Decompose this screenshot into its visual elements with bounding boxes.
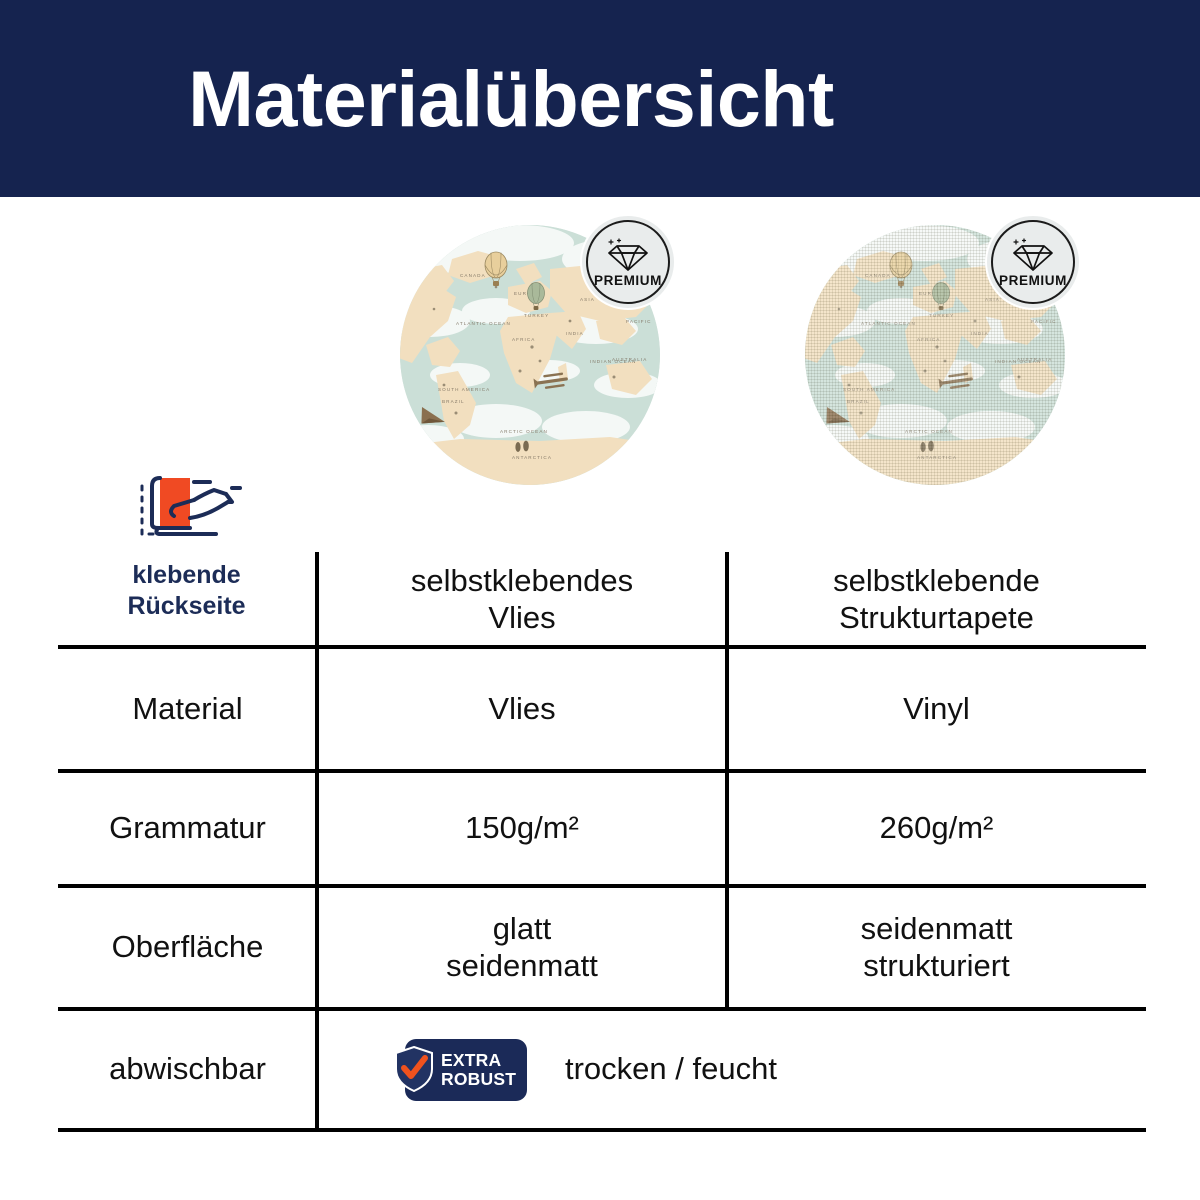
diamond-icon bbox=[606, 238, 650, 272]
premium-badge: PREMIUM bbox=[580, 214, 676, 310]
svg-text:PACIFIC: PACIFIC bbox=[1031, 319, 1056, 324]
premium-badge: PREMIUM bbox=[985, 214, 1081, 310]
svg-text:ARCTIC OCEAN: ARCTIC OCEAN bbox=[500, 429, 548, 434]
table-rule bbox=[58, 1128, 1146, 1132]
product-preview-vlies: ATLANTIC OCEAN AFRICA EUROPE ASIA INDIAN… bbox=[386, 214, 676, 504]
adhesive-back-icon bbox=[128, 472, 246, 548]
extra-robust-line1: EXTRA bbox=[441, 1051, 516, 1070]
svg-text:AFRICA: AFRICA bbox=[917, 337, 940, 342]
row-value-grammatur-vlies: 150g/m² bbox=[317, 771, 727, 886]
table-row: Grammatur 150g/m² 260g/m² bbox=[58, 771, 1146, 886]
material-overview-page: Materialübersicht bbox=[0, 0, 1200, 1200]
premium-badge-label: PREMIUM bbox=[999, 273, 1067, 288]
svg-text:ANTARCTICA: ANTARCTICA bbox=[917, 455, 957, 460]
shield-check-icon bbox=[394, 1046, 434, 1092]
row-value-material-strukturtapete: Vinyl bbox=[727, 647, 1146, 771]
abwischbar-value-text: trocken / feucht bbox=[565, 1051, 777, 1088]
column-header-vlies: selbstklebendes Vlies bbox=[317, 552, 727, 647]
diamond-icon bbox=[1011, 238, 1055, 272]
svg-text:ATLANTIC OCEAN: ATLANTIC OCEAN bbox=[456, 321, 511, 326]
table-header-row: klebende Rückseite selbstklebendes Vlies… bbox=[58, 552, 1146, 647]
table-rule bbox=[58, 884, 1146, 888]
table-row: abwischbar EXTRA ROBUST trocken / feucht bbox=[58, 1009, 1146, 1130]
table-column-divider bbox=[725, 552, 729, 1007]
extra-robust-badge-text: EXTRA ROBUST bbox=[441, 1051, 516, 1088]
table-rule bbox=[58, 1007, 1146, 1011]
svg-text:ATLANTIC OCEAN: ATLANTIC OCEAN bbox=[861, 321, 916, 326]
row-label-oberflaeche: Oberfläche bbox=[58, 886, 317, 1009]
premium-badge-inner: PREMIUM bbox=[991, 220, 1075, 304]
column-header-strukturtapete: selbstklebende Strukturtapete bbox=[727, 552, 1146, 647]
row-label-material: Material bbox=[58, 647, 317, 771]
table-row: Oberfläche glatt seidenmatt seidenmatt s… bbox=[58, 886, 1146, 1009]
svg-text:PACIFIC: PACIFIC bbox=[626, 319, 651, 324]
svg-text:BRAZIL: BRAZIL bbox=[442, 399, 465, 404]
table-column-divider bbox=[315, 552, 319, 1130]
row-value-oberflaeche-strukturtapete: seidenmatt strukturiert bbox=[727, 886, 1146, 1009]
svg-text:INDIA: INDIA bbox=[971, 331, 989, 336]
extra-robust-badge: EXTRA ROBUST bbox=[405, 1039, 527, 1101]
table-row: Material Vlies Vinyl bbox=[58, 647, 1146, 771]
svg-text:AFRICA: AFRICA bbox=[512, 337, 535, 342]
table-rule bbox=[58, 645, 1146, 649]
svg-text:CANADA: CANADA bbox=[865, 273, 891, 278]
row-value-grammatur-strukturtapete: 260g/m² bbox=[727, 771, 1146, 886]
premium-badge-inner: PREMIUM bbox=[586, 220, 670, 304]
extra-robust-line2: ROBUST bbox=[441, 1070, 516, 1089]
material-comparison-table: klebende Rückseite selbstklebendes Vlies… bbox=[58, 552, 1146, 1130]
svg-text:CANADA: CANADA bbox=[460, 273, 486, 278]
row-label-abwischbar: abwischbar bbox=[58, 1009, 317, 1130]
svg-text:SOUTH AMERICA: SOUTH AMERICA bbox=[843, 387, 895, 392]
adhesive-back-feature-cell: klebende Rückseite bbox=[58, 552, 317, 647]
row-value-oberflaeche-vlies: glatt seidenmatt bbox=[317, 886, 727, 1009]
svg-text:AUSTRALIA: AUSTRALIA bbox=[1017, 357, 1052, 362]
row-value-abwischbar: EXTRA ROBUST trocken / feucht bbox=[317, 1009, 1146, 1130]
svg-text:ASIA: ASIA bbox=[580, 297, 595, 302]
svg-text:ASIA: ASIA bbox=[985, 297, 1000, 302]
svg-text:TURKEY: TURKEY bbox=[929, 313, 954, 318]
svg-text:ANTARCTICA: ANTARCTICA bbox=[512, 455, 552, 460]
product-preview-strukturtapete: ATLANTIC OCEAN AFRICA EUROPE ASIA INDIAN… bbox=[791, 214, 1081, 504]
table-rule bbox=[58, 769, 1146, 773]
svg-text:TURKEY: TURKEY bbox=[524, 313, 549, 318]
product-previews: ATLANTIC OCEAN AFRICA EUROPE ASIA INDIAN… bbox=[0, 214, 1200, 504]
adhesive-back-icon-wrap bbox=[76, 472, 298, 548]
row-label-grammatur: Grammatur bbox=[58, 771, 317, 886]
svg-text:INDIA: INDIA bbox=[566, 331, 584, 336]
row-value-material-vlies: Vlies bbox=[317, 647, 727, 771]
premium-badge-label: PREMIUM bbox=[594, 273, 662, 288]
svg-text:ARCTIC OCEAN: ARCTIC OCEAN bbox=[905, 429, 953, 434]
svg-text:SOUTH AMERICA: SOUTH AMERICA bbox=[438, 387, 490, 392]
page-title: Materialübersicht bbox=[0, 0, 1200, 197]
svg-text:BRAZIL: BRAZIL bbox=[847, 399, 870, 404]
svg-text:AUSTRALIA: AUSTRALIA bbox=[612, 357, 647, 362]
adhesive-back-label: klebende Rückseite bbox=[58, 560, 315, 621]
